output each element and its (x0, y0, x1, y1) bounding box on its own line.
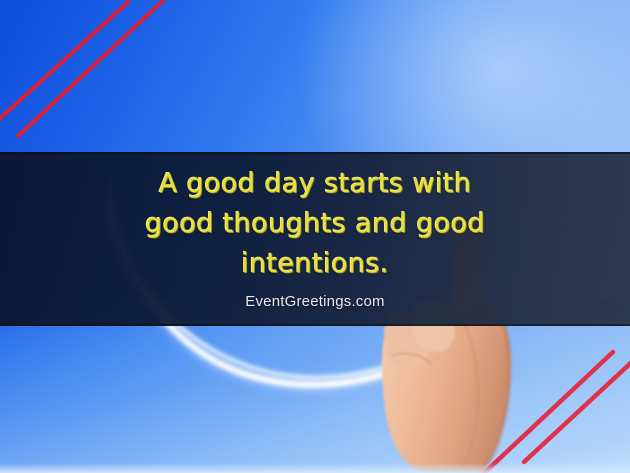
quote-line-2: good thoughts and good (0, 204, 630, 244)
quote-line-1: A good day starts with (0, 164, 630, 204)
banner-top-edge (0, 152, 630, 154)
quote-image-card: A good day starts with good thoughts and… (0, 0, 630, 473)
site-credit: EventGreetings.com (0, 293, 630, 310)
sky-bottom-edge (0, 463, 630, 473)
quote-line-3: intentions. (0, 244, 630, 284)
quote-text-block: A good day starts with good thoughts and… (0, 164, 630, 310)
banner-bottom-edge (0, 324, 630, 326)
quote-banner: A good day starts with good thoughts and… (0, 152, 630, 326)
